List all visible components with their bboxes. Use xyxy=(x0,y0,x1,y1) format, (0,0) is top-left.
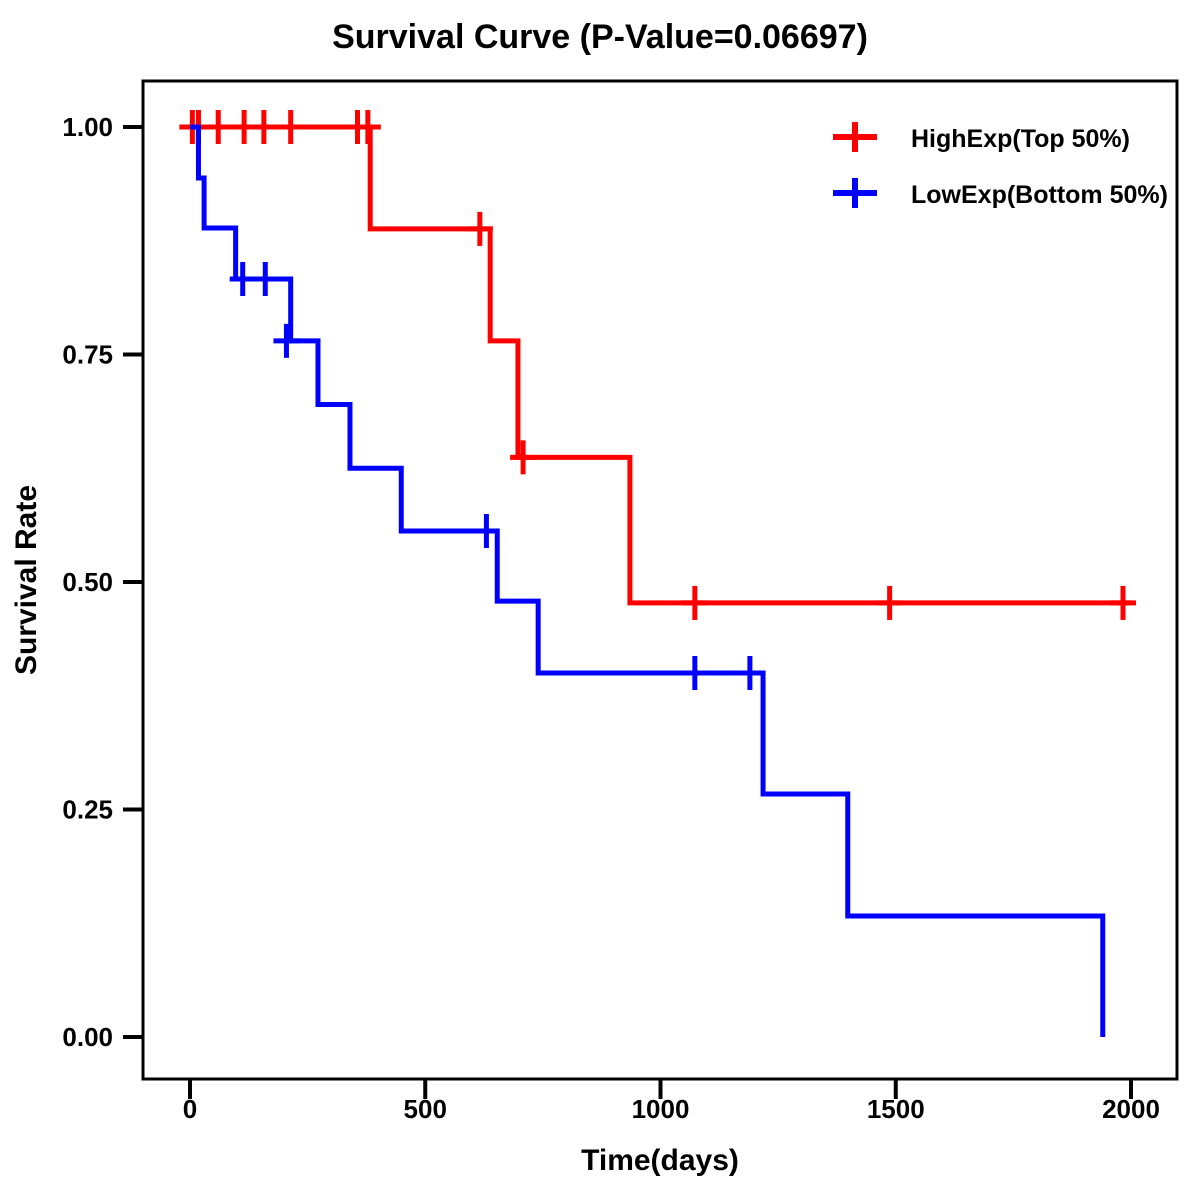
x-tick-label: 2000 xyxy=(1102,1094,1160,1124)
x-tick-label: 0 xyxy=(183,1094,197,1124)
y-tick-label: 0.25 xyxy=(62,795,113,825)
censor-tick-marker xyxy=(1110,586,1136,620)
x-tick-label: 500 xyxy=(404,1094,447,1124)
x-tick-label: 1500 xyxy=(867,1094,925,1124)
y-axis-title: Survival Rate xyxy=(10,485,43,675)
series-layer xyxy=(179,110,1136,1037)
y-tick-label: 0.00 xyxy=(62,1022,113,1052)
y-tick-label: 0.75 xyxy=(62,340,113,370)
survival-step-line xyxy=(190,127,1103,1037)
survival-chart-figure: Survival Curve (P-Value=0.06697) 0500100… xyxy=(0,0,1200,1200)
censor-tick-marker xyxy=(251,110,277,144)
y-tick-label: 1.00 xyxy=(62,112,113,142)
censor-tick-marker xyxy=(278,110,304,144)
plot-area: 0500100015002000 0.000.250.500.751.00 Hi… xyxy=(0,0,1200,1200)
censor-tick-marker xyxy=(510,440,536,474)
censor-tick-marker xyxy=(877,586,903,620)
x-axis-title: Time(days) xyxy=(581,1144,739,1177)
censor-tick-marker xyxy=(682,656,708,690)
x-axis-ticks: 0500100015002000 xyxy=(183,1079,1160,1124)
censor-tick-marker xyxy=(737,656,763,690)
legend-item-label: HighExp(Top 50%) xyxy=(911,125,1130,153)
legend-plus-icon xyxy=(833,178,877,208)
legend-item[interactable]: HighExp(Top 50%) xyxy=(833,122,1130,153)
legend-item[interactable]: LowExp(Bottom 50%) xyxy=(833,178,1168,209)
censor-tick-marker xyxy=(252,262,278,296)
censor-tick-marker xyxy=(682,586,708,620)
censor-tick-marker xyxy=(205,110,231,144)
y-axis-ticks: 0.000.250.500.751.00 xyxy=(62,112,143,1052)
x-tick-label: 1000 xyxy=(632,1094,690,1124)
legend-item-label: LowExp(Bottom 50%) xyxy=(911,181,1168,209)
chart-legend: HighExp(Top 50%)LowExp(Bottom 50%) xyxy=(833,122,1168,209)
y-tick-label: 0.50 xyxy=(62,567,113,597)
plot-frame xyxy=(143,81,1177,1079)
legend-plus-icon xyxy=(833,122,877,152)
censor-tick-marker xyxy=(273,324,299,358)
